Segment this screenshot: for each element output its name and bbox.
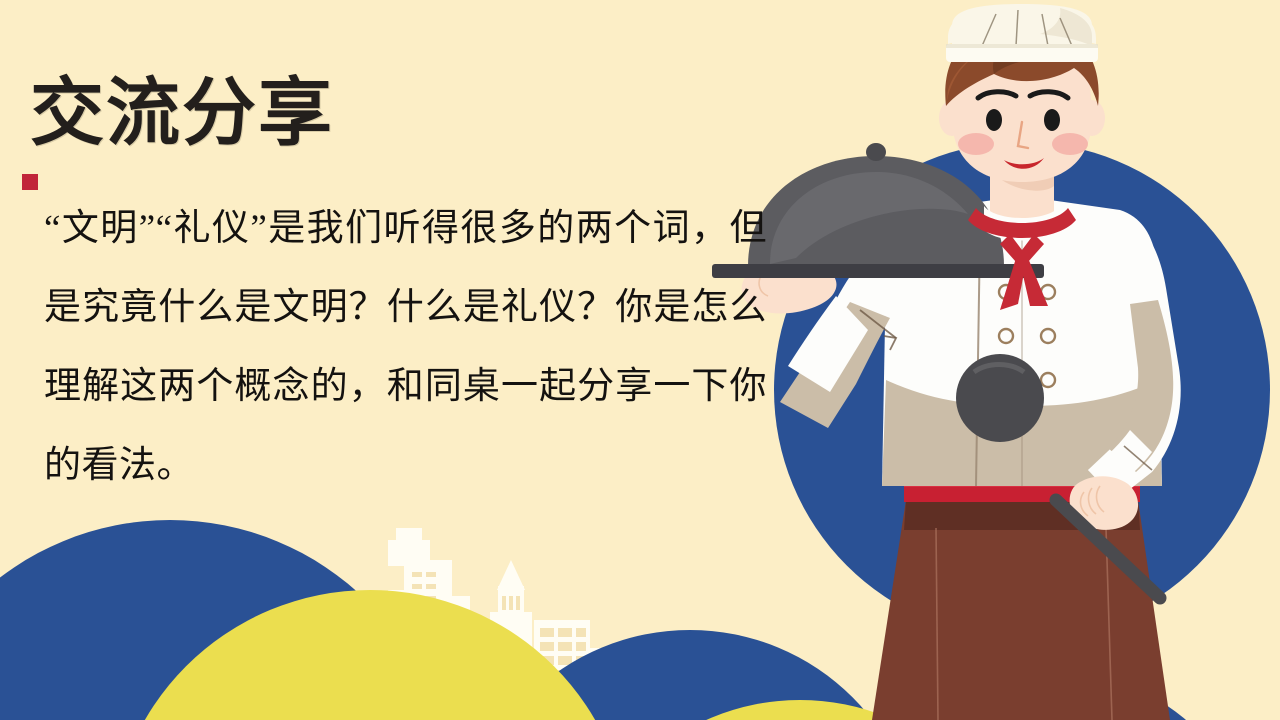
ladle-bowl (956, 354, 1044, 442)
chef-cheek-left (958, 133, 994, 155)
page-title: 交流分享 (30, 76, 334, 154)
bullet-paragraph: “文明”“礼仪”是我们听得很多的两个词，但是究竟什么是文明？什么是礼仪？你是怎么… (22, 152, 767, 542)
city-skyline-silhouette (95, 528, 612, 720)
cloche-knob (866, 143, 886, 161)
chef-cheek-right (1052, 133, 1088, 155)
chef-toque (946, 4, 1098, 62)
presentation-slide: 交流分享 “文明”“礼仪”是我们听得很多的两个词，但是究竟什么是文明？什么是礼仪… (0, 0, 1280, 720)
bullet-square-icon (22, 174, 38, 190)
body-paragraph-text: “文明”“礼仪”是我们听得很多的两个词，但是究竟什么是文明？什么是礼仪？你是怎么… (44, 189, 767, 505)
slide-text-zone: 交流分享 “文明”“礼仪”是我们听得很多的两个词，但是究竟什么是文明？什么是礼仪… (0, 0, 790, 500)
chef-eye-left (986, 109, 1002, 131)
chef-skirt (872, 500, 1170, 720)
yellow-decorative-circle (110, 590, 630, 720)
blue-decorative-circle (0, 520, 450, 720)
skyline-windows-on-blue (103, 618, 380, 708)
skyline-window-marks (296, 572, 586, 679)
chef-eye-right (1044, 109, 1060, 131)
